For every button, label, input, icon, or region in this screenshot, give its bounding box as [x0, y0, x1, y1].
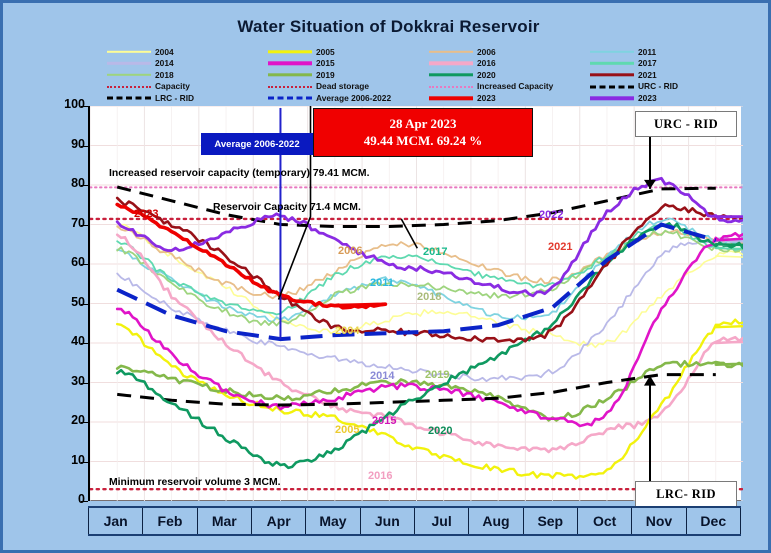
series-annotation-2011: 2011	[370, 277, 394, 289]
y-axis-tick-labels: 1009080706050403020100	[29, 99, 85, 507]
legend-item[interactable]: 2014	[107, 58, 268, 70]
series-annotation-2016: 2016	[368, 470, 392, 482]
legend-item[interactable]: Average 2006-2022	[268, 92, 429, 104]
x-axis-month-nov[interactable]: Nov	[632, 508, 686, 534]
legend-label: 2006	[477, 48, 496, 56]
y-tick-label: 90	[29, 137, 85, 151]
series-annotation-2019: 2019	[425, 369, 449, 381]
legend-item[interactable]: Increased Capacity	[429, 81, 590, 93]
y-tick-mark	[81, 422, 88, 423]
y-tick-label: 20	[29, 413, 85, 427]
x-axis-month-jun[interactable]: Jun	[361, 508, 415, 534]
y-tick-mark	[81, 501, 88, 502]
legend-label: 2021	[638, 71, 657, 79]
legend-swatch-icon	[107, 82, 151, 91]
y-tick-label: 50	[29, 295, 85, 309]
legend-item[interactable]: Dead storage	[268, 81, 429, 93]
legend-item[interactable]: URC - RID	[590, 81, 751, 93]
legend-label: 2005	[316, 48, 335, 56]
y-tick-mark	[81, 343, 88, 344]
y-tick-mark	[81, 185, 88, 186]
x-axis-month-oct[interactable]: Oct	[578, 508, 632, 534]
legend-label: 2023	[638, 94, 657, 102]
legend-item[interactable]: 2016	[429, 58, 590, 70]
y-tick-label: 0	[29, 492, 85, 506]
legend-label: 2014	[155, 59, 174, 67]
x-axis-month-dec[interactable]: Dec	[687, 508, 741, 534]
series-canvas	[90, 106, 743, 501]
gridlines	[90, 106, 743, 501]
legend-label: LRC - RID	[155, 94, 194, 102]
legend-item[interactable]: 2015	[268, 58, 429, 70]
series-2006	[117, 226, 743, 298]
y-tick-label: 100	[29, 97, 85, 111]
lrc-callout: LRC- RID	[635, 481, 737, 507]
legend-label: Capacity	[155, 82, 190, 90]
series-annotation-2018: 2018	[417, 291, 441, 303]
reservoir-capacity-label: Reservoir Capacity 71.4 MCM.	[213, 202, 361, 213]
legend-swatch-icon	[429, 70, 473, 79]
series-annotation-2004: 2004	[335, 325, 359, 337]
legend-label: 2015	[316, 59, 335, 67]
legend-label: URC - RID	[638, 82, 678, 90]
legend-item[interactable]: 2004	[107, 46, 268, 58]
y-tick-label: 70	[29, 216, 85, 230]
x-axis-month-feb[interactable]: Feb	[143, 508, 197, 534]
y-tick-mark	[81, 462, 88, 463]
series-annotation-2005: 2005	[335, 424, 359, 436]
legend-swatch-icon	[590, 82, 634, 91]
current-status-callout: 28 Apr 2023 49.44 MCM. 69.24 %	[313, 108, 533, 157]
legend-swatch-icon	[429, 59, 473, 68]
legend-swatch-icon	[107, 94, 151, 103]
legend-label: 2017	[638, 59, 657, 67]
series-annotation-2020: 2020	[428, 425, 452, 437]
series-annotation-2021: 2021	[548, 241, 572, 253]
series-annotation-2014: 2014	[370, 370, 394, 382]
legend-label: 2020	[477, 71, 496, 79]
legend-item[interactable]: LRC - RID	[107, 92, 268, 104]
legend-item[interactable]: 2017	[590, 58, 751, 70]
y-tick-mark	[81, 264, 88, 265]
y-tick-mark	[81, 106, 88, 107]
legend-item[interactable]: 2018	[107, 69, 268, 81]
series-annotation-2006: 2006	[338, 245, 362, 257]
x-axis-month-aug[interactable]: Aug	[469, 508, 523, 534]
legend-label: Average 2006-2022	[316, 94, 391, 102]
x-axis-month-mar[interactable]: Mar	[198, 508, 252, 534]
y-tick-label: 80	[29, 176, 85, 190]
legend-label: 2011	[638, 48, 656, 56]
legend-item[interactable]: 2023	[429, 92, 590, 104]
legend-item[interactable]: 2006	[429, 46, 590, 58]
y-tick-label: 60	[29, 255, 85, 269]
legend-swatch-icon	[107, 47, 151, 56]
legend-swatch-icon	[429, 94, 473, 103]
series-annotation-2023: 2023	[134, 208, 158, 220]
y-tick-label: 30	[29, 374, 85, 388]
current-status-value: 49.44 MCM. 69.24 %	[364, 133, 482, 150]
legend-swatch-icon	[107, 59, 151, 68]
legend-swatch-icon	[590, 94, 634, 103]
x-axis-month-jan[interactable]: Jan	[88, 508, 143, 534]
y-tick-mark	[81, 304, 88, 305]
legend-label: Dead storage	[316, 82, 369, 90]
legend-swatch-icon	[429, 47, 473, 56]
legend-swatch-icon	[268, 82, 312, 91]
legend-label: 2018	[155, 71, 174, 79]
y-tick-label: 40	[29, 334, 85, 348]
legend-item[interactable]: 2021	[590, 69, 751, 81]
x-axis-month-band: JanFebMarAprMayJunJulAugSepOctNovDec	[88, 506, 741, 536]
legend-swatch-icon	[268, 47, 312, 56]
legend-item[interactable]: 2019	[268, 69, 429, 81]
legend-swatch-icon	[429, 82, 473, 91]
x-axis-month-apr[interactable]: Apr	[252, 508, 306, 534]
legend-label: 2023	[477, 94, 496, 102]
legend-item[interactable]: 2023	[590, 92, 751, 104]
plot-area[interactable]: Increased reservoir capacity (temporary)…	[88, 106, 741, 501]
minimum-volume-label: Minimum reservoir volume 3 MCM.	[109, 477, 281, 488]
legend-item[interactable]: 2011	[590, 46, 751, 58]
legend-item[interactable]: 2005	[268, 46, 429, 58]
legend-swatch-icon	[107, 70, 151, 79]
x-axis-month-sep[interactable]: Sep	[524, 508, 578, 534]
current-status-date: 28 Apr 2023	[390, 116, 457, 133]
chart-frame: Water Situation of Dokkrai Reservoir 200…	[0, 0, 771, 553]
legend-swatch-icon	[590, 59, 634, 68]
chart-legend[interactable]: 2004200520062011201420152016201720182019…	[107, 46, 757, 104]
legend-label: 2019	[316, 71, 335, 79]
y-tick-mark	[81, 146, 88, 147]
legend-swatch-icon	[590, 47, 634, 56]
average-band-callout: Average 2006-2022	[201, 133, 313, 155]
urc-callout: URC - RID	[635, 111, 737, 137]
y-tick-label: 10	[29, 453, 85, 467]
series-annotation-2022: 2022	[539, 209, 563, 221]
legend-item[interactable]: Capacity	[107, 81, 268, 93]
legend-label: 2016	[477, 59, 496, 67]
legend-label: Increased Capacity	[477, 82, 553, 90]
y-tick-mark	[81, 225, 88, 226]
legend-item[interactable]: 2020	[429, 69, 590, 81]
series-annotation-2015: 2015	[372, 415, 396, 427]
x-axis-month-jul[interactable]: Jul	[415, 508, 469, 534]
x-axis-month-may[interactable]: May	[306, 508, 360, 534]
legend-swatch-icon	[590, 70, 634, 79]
increased-capacity-label: Increased reservoir capacity (temporary)…	[109, 168, 369, 179]
legend-swatch-icon	[268, 94, 312, 103]
series-annotation-2017: 2017	[423, 246, 447, 258]
legend-swatch-icon	[268, 70, 312, 79]
page-title: Water Situation of Dokkrai Reservoir	[3, 17, 771, 37]
legend-label: 2004	[155, 48, 174, 56]
y-tick-mark	[81, 383, 88, 384]
legend-swatch-icon	[268, 59, 312, 68]
